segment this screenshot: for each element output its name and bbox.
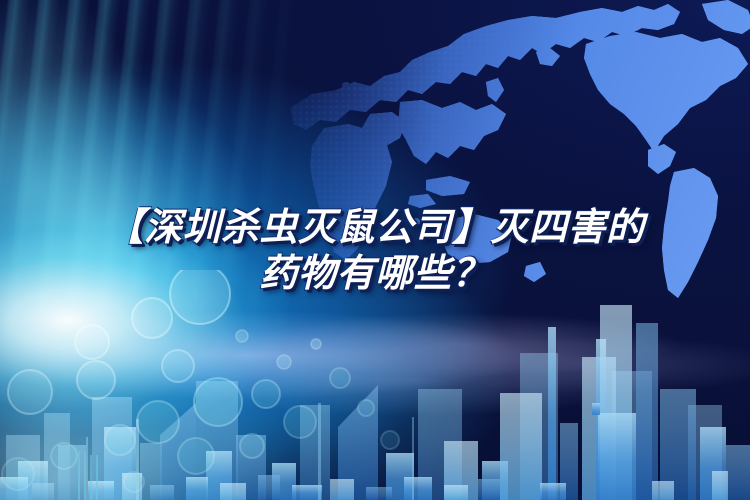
banner-image: 【深圳杀虫灭鼠公司】灭四害的 药物有哪些？ xyxy=(0,0,750,500)
banner-title: 【深圳杀虫灭鼠公司】灭四害的 药物有哪些？ xyxy=(0,205,750,295)
title-line-2: 药物有哪些？ xyxy=(0,251,750,295)
bokeh-circles-graphic xyxy=(0,270,430,500)
title-line-1: 【深圳杀虫灭鼠公司】灭四害的 xyxy=(0,205,750,249)
